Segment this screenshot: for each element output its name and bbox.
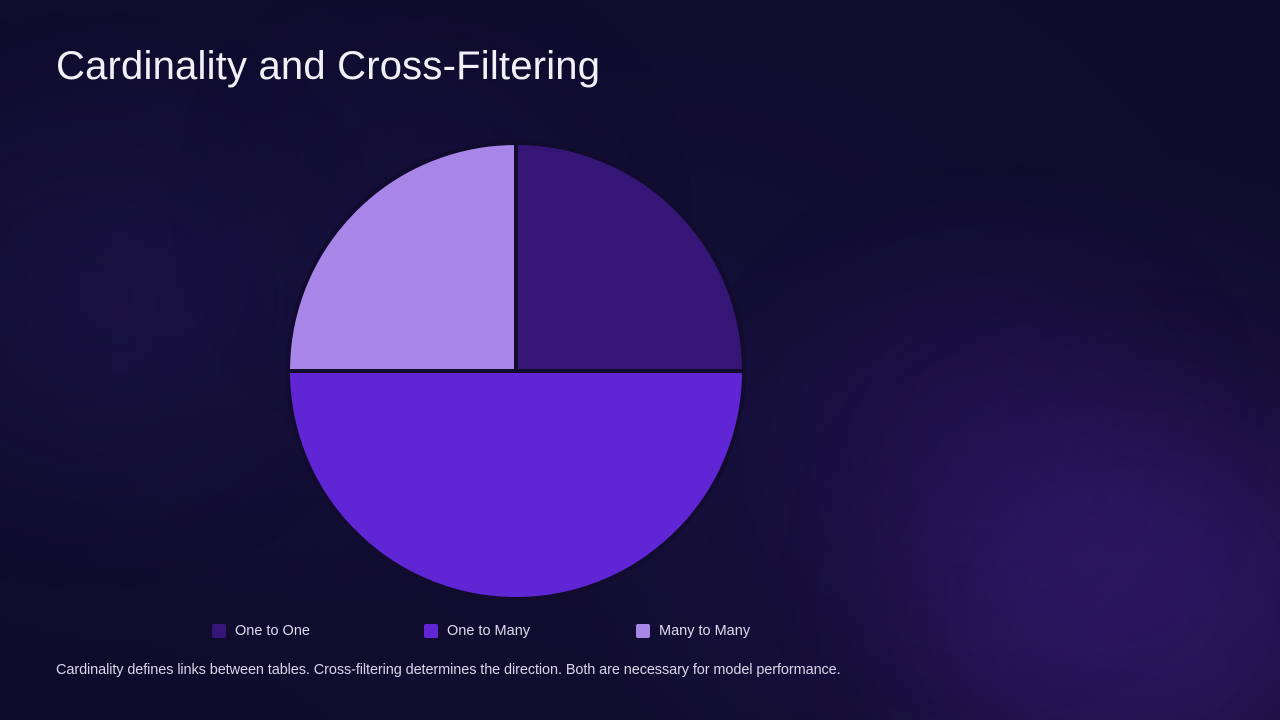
slide-root: Cardinality and Cross-Filtering One to O… xyxy=(0,0,1280,720)
pie-slice-many-to-many[interactable]: Many to Many 25% xyxy=(288,143,516,371)
pie-slice-group: One to One 25%One to Many 50%Many to Man… xyxy=(288,143,744,599)
chart-legend: One to One One to Many Many to Many xyxy=(0,618,1060,644)
page-title: Cardinality and Cross-Filtering xyxy=(56,40,600,92)
legend-item-many-to-many[interactable]: Many to Many xyxy=(636,622,848,640)
pie-slice-one-to-one[interactable]: One to One 25% xyxy=(516,143,744,371)
background-glow-left xyxy=(0,150,260,450)
legend-swatch-icon-one-to-many xyxy=(424,624,438,638)
background-glow-right xyxy=(830,300,1130,580)
legend-item-one-to-one[interactable]: One to One xyxy=(212,622,424,640)
pie-slice-one-to-many[interactable]: One to Many 50% xyxy=(288,371,744,599)
legend-swatch-icon-many-to-many xyxy=(636,624,650,638)
pie-chart-svg: One to One 25%One to Many 50%Many to Man… xyxy=(0,0,1280,720)
legend-label-one-to-one: One to One xyxy=(235,622,310,640)
legend-label-one-to-many: One to Many xyxy=(447,622,530,640)
background-glow-bottom-right xyxy=(920,430,1280,720)
pie-chart: One to One 25%One to Many 50%Many to Man… xyxy=(0,0,1280,720)
caption-text: Cardinality defines links between tables… xyxy=(56,659,841,681)
legend-swatch-icon-one-to-one xyxy=(212,624,226,638)
legend-item-one-to-many[interactable]: One to Many xyxy=(424,622,636,640)
legend-label-many-to-many: Many to Many xyxy=(659,622,750,640)
